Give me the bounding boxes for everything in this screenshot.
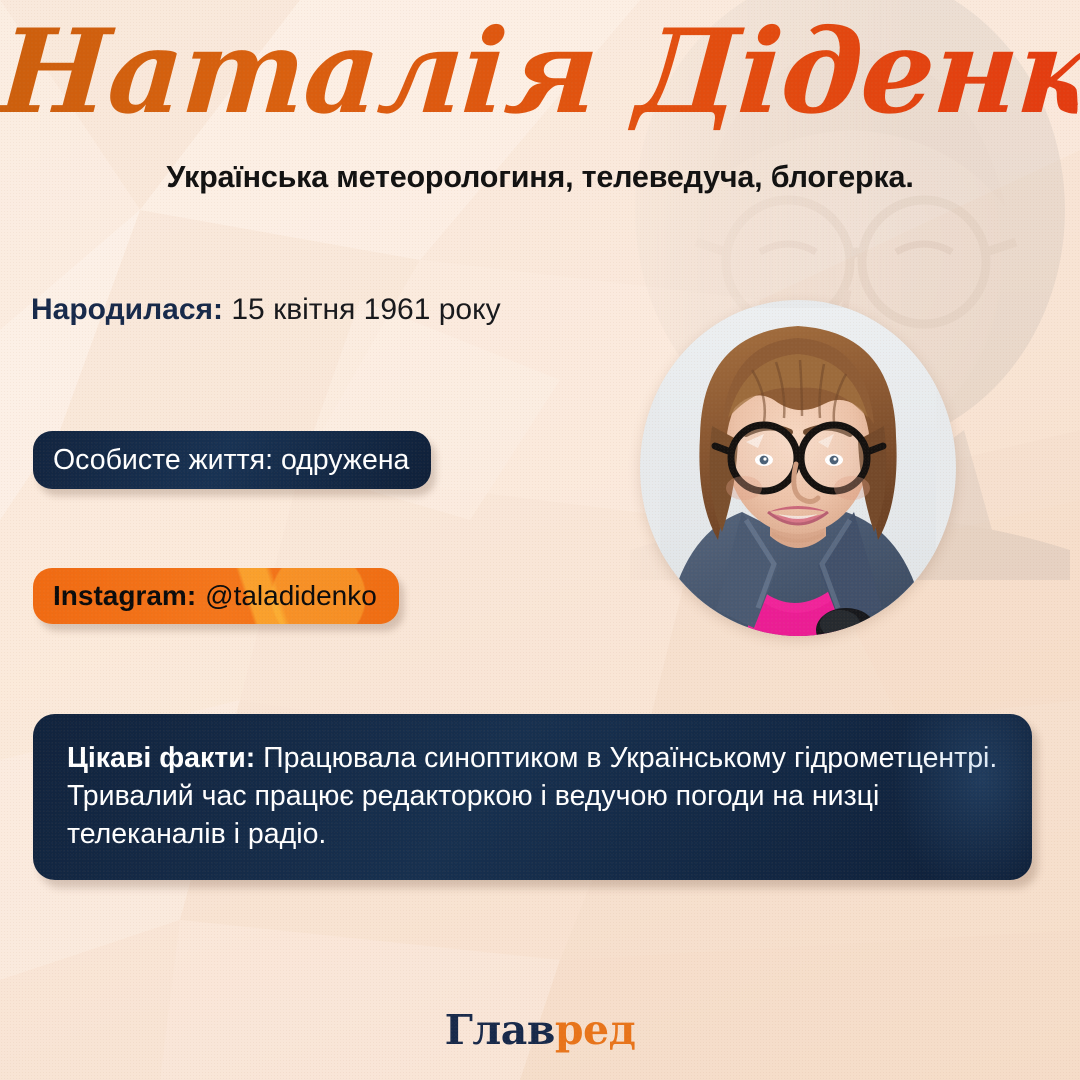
background-noise-overlay: [0, 0, 1080, 1080]
infographic-card: Наталія Діденко Українська метеорологиня…: [0, 0, 1080, 1080]
